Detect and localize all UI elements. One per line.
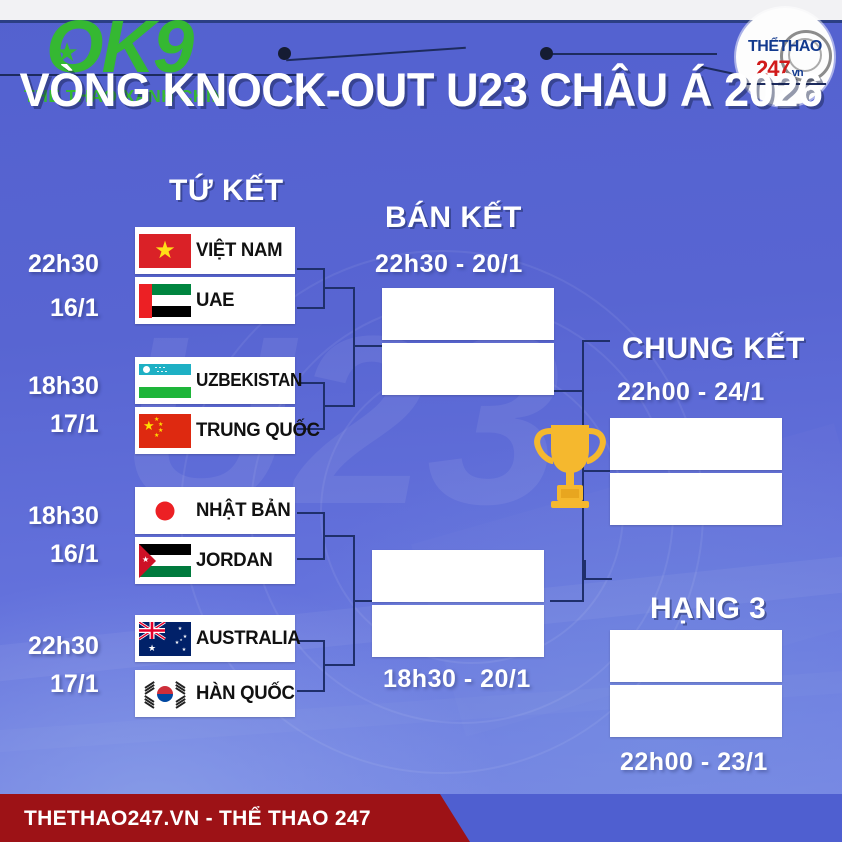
bracket-line-final-top	[550, 390, 584, 392]
team-name: VIỆT NAM	[196, 239, 282, 262]
header-line-right	[547, 53, 717, 55]
uae-flag	[139, 284, 191, 318]
team-name: UZBEKISTAN	[196, 370, 302, 391]
team-card[interactable]: UZBEKISTAN	[135, 357, 295, 404]
final-time: 22h00 - 24/1	[617, 378, 765, 407]
flag-star-icon: ★	[154, 239, 176, 263]
crescent-icon	[143, 366, 150, 373]
semifinal-1-slot-bottom[interactable]	[382, 343, 554, 395]
bracket-line-sf1-out	[355, 345, 385, 347]
team-card[interactable]: ★ VIỆT NAM	[135, 227, 295, 274]
svg-text:★: ★	[178, 626, 183, 632]
round-heading-third-place: HẠNG 3	[650, 592, 766, 626]
kickoff-time-1: 22h30	[28, 250, 99, 279]
flag-star-icon: ★	[143, 419, 155, 432]
page-title: VÒNG KNOCK-OUT U23 CHÂU Á 2026	[17, 62, 825, 117]
bracket-line-qf4-out	[325, 664, 355, 666]
semifinal-bottom-time: 18h30 - 20/1	[383, 665, 531, 694]
footer: THETHAO247.VN - THỂ THAO 247	[0, 794, 842, 842]
union-jack-icon: ★ ★ ★ ★ ★ ★	[139, 622, 191, 656]
team-name: NHẬT BẢN	[196, 499, 290, 522]
trophy-icon	[531, 419, 609, 511]
taegeuk-icon	[157, 686, 173, 702]
bracket-line-third-place	[584, 578, 612, 580]
round-heading-semifinal: BÁN KẾT	[385, 201, 522, 235]
kickoff-date-4: 17/1	[50, 670, 99, 699]
infographic-canvas: U23 OK9 ★ THỂ THAO XANH CHÍN THỂTHAO 247…	[0, 0, 842, 842]
team-name: HÀN QUỐC	[196, 682, 295, 705]
australia-flag: ★ ★ ★ ★ ★ ★	[139, 622, 191, 656]
bracket-line-third-place-vert	[584, 560, 586, 580]
jordan-flag: ★	[139, 544, 191, 578]
team-name: JORDAN	[196, 549, 273, 572]
bracket-line-sf1-vert	[353, 287, 355, 407]
kickoff-date-3: 16/1	[50, 540, 99, 569]
header-line-mid	[286, 47, 466, 62]
southkorea-flag	[139, 677, 191, 711]
team-card[interactable]: HÀN QUỐC	[135, 670, 295, 717]
logo-line1: THỂTHAO	[748, 38, 822, 56]
svg-text:★: ★	[182, 647, 187, 653]
semifinal-1-slot-top[interactable]	[382, 288, 554, 340]
team-card[interactable]: UAE	[135, 277, 295, 324]
round-heading-final: CHUNG KẾT	[622, 332, 805, 366]
team-card[interactable]: ★ ★ ★ ★ ★ ★ AUSTRALIA	[135, 615, 295, 662]
team-name: UAE	[196, 289, 234, 312]
bracket-line-qf1-bottom	[297, 307, 325, 309]
final-slot-top[interactable]	[610, 418, 782, 470]
bracket-line-final-out	[584, 340, 610, 342]
third-place-time: 22h00 - 23/1	[620, 748, 768, 777]
bracket-line-qf3-bottom	[297, 558, 325, 560]
kickoff-date-1: 16/1	[50, 294, 99, 323]
bracket-line-qf3-out	[325, 535, 355, 537]
third-place-slot-top[interactable]	[610, 630, 782, 682]
svg-text:★: ★	[148, 643, 156, 653]
bracket-line-qf4-bottom	[297, 690, 325, 692]
third-place-slot-bottom[interactable]	[610, 685, 782, 737]
semifinal-top-time: 22h30 - 20/1	[375, 250, 523, 279]
kickoff-date-2: 17/1	[50, 410, 99, 439]
kickoff-time-3: 18h30	[28, 502, 99, 531]
team-name: AUSTRALIA	[196, 627, 300, 650]
team-name: TRUNG QUỐC	[196, 419, 320, 442]
vietnam-flag: ★	[139, 234, 191, 268]
semifinal-2-slot-top[interactable]	[372, 550, 544, 602]
round-heading-quarterfinal: TỨ KẾT	[169, 174, 284, 208]
bracket-line-qf1-top	[297, 268, 325, 270]
semifinal-2-slot-bottom[interactable]	[372, 605, 544, 657]
team-card[interactable]: NHẬT BẢN	[135, 487, 295, 534]
bracket-line-qf4-top	[297, 640, 325, 642]
kickoff-time-4: 22h30	[28, 632, 99, 661]
team-card[interactable]: ★ ★ ★ ★ ★ TRUNG QUỐC	[135, 407, 295, 454]
flag-star-icon: ★	[142, 556, 149, 564]
kickoff-time-2: 18h30	[28, 372, 99, 401]
footer-text: THETHAO247.VN - THỂ THAO 247	[24, 807, 371, 831]
bracket-line-qf1-out	[325, 287, 355, 289]
bracket-line-qf4-vert	[323, 640, 325, 692]
japan-flag	[139, 494, 191, 528]
final-slot-bottom[interactable]	[610, 473, 782, 525]
bracket-line-final-bottom	[550, 600, 584, 602]
bracket-line-qf2-out	[325, 405, 355, 407]
svg-text:★: ★	[183, 634, 188, 640]
china-flag: ★ ★ ★ ★ ★	[139, 414, 191, 448]
bracket-line-qf3-top	[297, 512, 325, 514]
svg-text:★: ★	[179, 638, 182, 642]
team-card[interactable]: ★ JORDAN	[135, 537, 295, 584]
uzbekistan-flag	[139, 364, 191, 398]
header-dot-right	[540, 47, 553, 60]
